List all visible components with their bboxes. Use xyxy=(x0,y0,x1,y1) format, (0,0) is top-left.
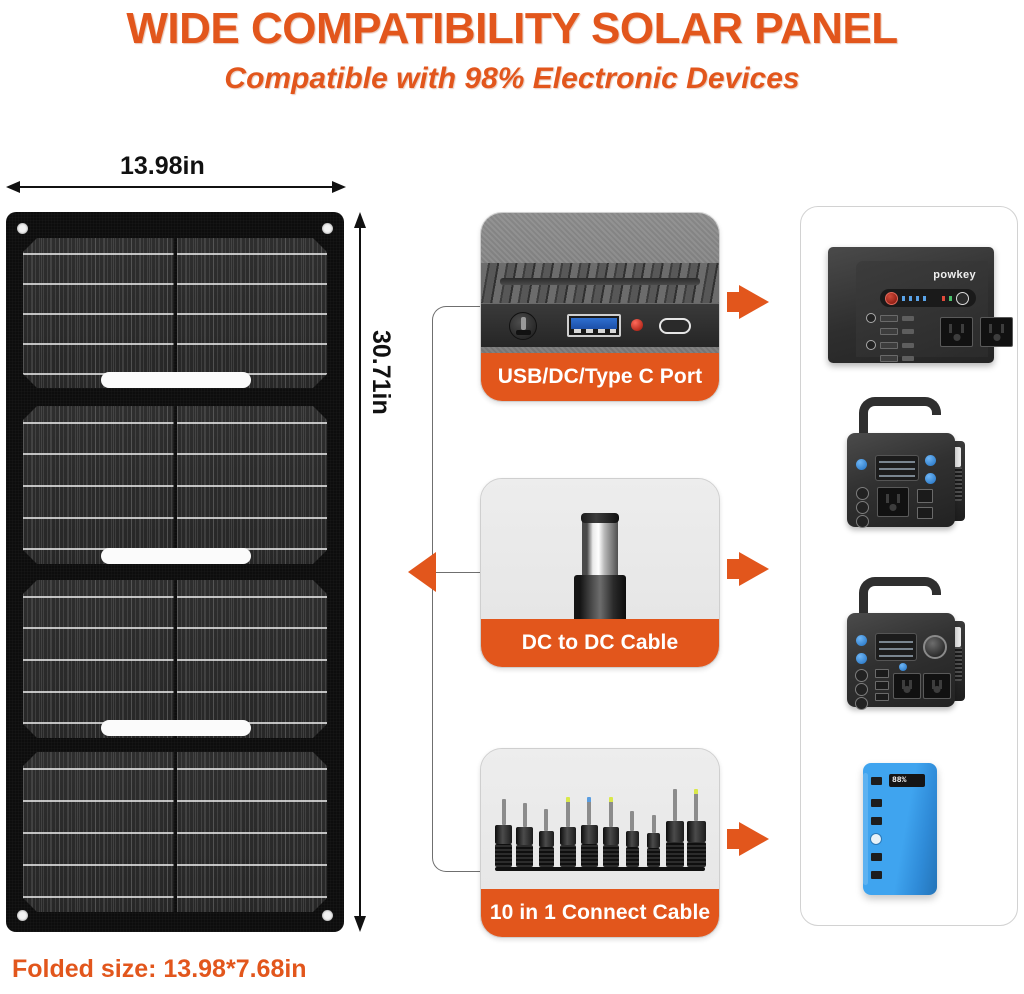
busbar xyxy=(23,343,174,345)
tip-barrel xyxy=(603,827,619,845)
tip-barrel xyxy=(495,825,512,844)
label-tick xyxy=(880,342,898,349)
busbar xyxy=(23,517,174,519)
grommet-top-right xyxy=(322,223,333,234)
tip-grip xyxy=(560,845,576,867)
knob-icon xyxy=(866,340,876,350)
dc-jack-icon xyxy=(856,487,869,500)
connector-tip xyxy=(559,797,576,867)
tip-grip xyxy=(516,845,533,867)
tip-grip xyxy=(495,844,512,867)
busbar xyxy=(177,343,328,345)
solar-cell xyxy=(23,406,174,564)
solar-cell xyxy=(23,580,174,738)
dc-jack-icon xyxy=(509,312,537,340)
lcd-display xyxy=(875,455,919,481)
label-bar xyxy=(902,356,914,361)
busbar xyxy=(177,596,328,598)
busbar xyxy=(23,283,174,285)
station-body xyxy=(847,433,955,527)
label-tick xyxy=(880,328,898,335)
connector-tip xyxy=(667,789,684,867)
brand-logo: powkey xyxy=(933,269,976,281)
indicator-strip xyxy=(880,289,976,307)
arrow-right-icon-2 xyxy=(727,552,769,586)
tip-grip xyxy=(626,847,639,867)
connector-tips-row xyxy=(495,777,705,867)
tip-grip xyxy=(647,848,660,867)
blue-button-icon xyxy=(856,635,867,646)
tip-pin xyxy=(502,799,506,825)
port-face xyxy=(481,303,719,347)
busbar xyxy=(177,313,328,315)
dc-plug-illustration xyxy=(481,479,719,619)
power-bank-button-icon xyxy=(870,833,882,845)
connector-tip xyxy=(645,815,662,867)
connector-stub xyxy=(432,572,480,573)
connector-tips-illustration xyxy=(481,749,719,889)
busbar xyxy=(177,517,328,519)
tip-pin xyxy=(694,789,698,821)
busbar xyxy=(23,896,174,898)
ac-outlet-icon xyxy=(893,673,921,699)
tip-pin xyxy=(673,789,677,821)
tip-pin xyxy=(609,797,613,827)
tips-base-bar xyxy=(495,867,705,871)
connector-tip xyxy=(688,789,705,867)
power-bank-port-icon xyxy=(871,871,882,879)
power-bank-port-icon xyxy=(871,777,882,785)
compatible-devices-panel: powkey xyxy=(800,206,1018,926)
device-portable-power-station-1 xyxy=(847,397,967,529)
power-bank-port-icon xyxy=(871,799,882,807)
dc-jack-icon xyxy=(855,697,868,710)
ridge-slot xyxy=(500,278,700,285)
blue-button-icon xyxy=(925,455,936,466)
bank-left-edge xyxy=(863,773,868,885)
arrow-head xyxy=(739,552,769,586)
label-tick xyxy=(880,355,898,362)
tip-barrel xyxy=(539,831,554,847)
busbar xyxy=(23,691,174,693)
tip-grip xyxy=(581,844,598,867)
busbar xyxy=(177,627,328,629)
feature-label-dc: DC to DC Cable xyxy=(481,619,719,667)
page-subtitle: Compatible with 98% Electronic Devices xyxy=(0,62,1024,96)
power-button-icon xyxy=(885,292,898,305)
station-control-panel: powkey xyxy=(856,261,988,357)
busbar xyxy=(23,253,174,255)
solar-panel xyxy=(6,212,344,932)
connector-tip xyxy=(516,803,533,867)
solar-cell xyxy=(177,752,328,912)
ac-outlet-icon xyxy=(980,317,1013,347)
busbar xyxy=(177,800,328,802)
device-blue-power-bank: 88% xyxy=(863,763,937,895)
page-title: WIDE COMPATIBILITY SOLAR PANEL xyxy=(0,4,1024,54)
grommet-top-left xyxy=(17,223,28,234)
connector-tip xyxy=(602,797,619,867)
arrow-right-icon-1 xyxy=(727,285,769,319)
connector-tip xyxy=(538,809,555,867)
busbar xyxy=(23,422,174,424)
tip-grip xyxy=(687,842,706,867)
solar-cell-section xyxy=(23,580,327,738)
mode-button-icon xyxy=(956,292,969,305)
fold-slot xyxy=(101,548,251,564)
dc-jack-icon xyxy=(855,683,868,696)
led-icon-red xyxy=(942,296,945,301)
busbar xyxy=(23,768,174,770)
blue-button-icon xyxy=(856,459,867,470)
busbar xyxy=(23,313,174,315)
fold-slot xyxy=(101,720,251,736)
tip-barrel xyxy=(581,825,598,844)
cell-busbars xyxy=(177,406,328,564)
tip-pin xyxy=(630,811,634,831)
connector-tip xyxy=(581,797,598,867)
blue-button-icon xyxy=(899,663,907,671)
busbar xyxy=(23,627,174,629)
dc-plug-barrel-icon xyxy=(582,517,618,579)
busbar xyxy=(23,864,174,866)
type-c-port-icon xyxy=(659,318,691,334)
cell-busbars xyxy=(23,752,174,912)
label-tick xyxy=(880,315,898,322)
cell-busbars xyxy=(23,238,174,388)
usb-port-icon xyxy=(917,489,933,503)
label-bar xyxy=(902,316,914,321)
solar-cell-section xyxy=(23,406,327,564)
ac-outlet-icon xyxy=(877,487,909,517)
tip-pin xyxy=(523,803,527,827)
busbar xyxy=(23,596,174,598)
solar-cell-section xyxy=(23,752,327,912)
led-icon-green xyxy=(949,296,952,301)
usb-port-illustration xyxy=(481,213,719,353)
dc-jack-icon xyxy=(855,669,868,682)
tip-pin xyxy=(587,797,591,825)
arrow-left-icon xyxy=(408,552,436,592)
solar-cell-section xyxy=(23,238,327,388)
busbar xyxy=(177,864,328,866)
station-left-controls xyxy=(866,313,928,362)
blue-button-icon xyxy=(925,473,936,484)
tip-grip xyxy=(603,845,619,867)
dc-plug-cap-icon xyxy=(581,513,619,523)
solar-cell xyxy=(177,238,328,388)
tip-barrel xyxy=(687,821,706,842)
led-icon xyxy=(923,296,926,301)
arrow-head xyxy=(739,822,769,856)
busbar xyxy=(23,832,174,834)
folded-size-label: Folded size: 13.98*7.68in xyxy=(12,955,307,984)
connector-bracket xyxy=(432,306,480,872)
feature-card-ten-in-one[interactable]: 10 in 1 Connect Cable xyxy=(480,748,720,938)
busbar xyxy=(177,768,328,770)
label-bar xyxy=(902,343,914,348)
arrow-right-icon-3 xyxy=(727,822,769,856)
solar-cell xyxy=(177,406,328,564)
solar-cell xyxy=(177,580,328,738)
infographic-root: WIDE COMPATIBILITY SOLAR PANEL Compatibl… xyxy=(0,0,1024,994)
usb-port-icon xyxy=(917,507,933,519)
feature-label-tips: 10 in 1 Connect Cable xyxy=(481,889,719,937)
tip-barrel xyxy=(666,821,684,842)
tip-grip xyxy=(666,842,684,867)
busbar xyxy=(23,800,174,802)
busbar xyxy=(177,453,328,455)
feature-card-usb-dc-typec[interactable]: USB/DC/Type C Port xyxy=(480,212,720,402)
cell-busbars xyxy=(177,580,328,738)
tip-pin xyxy=(566,797,570,827)
feature-card-dc-to-dc[interactable]: DC to DC Cable xyxy=(480,478,720,668)
device-powkey-station-face: powkey xyxy=(828,247,994,363)
connector-tip xyxy=(495,799,512,867)
dc-plug-body-icon xyxy=(574,575,626,619)
knob-icon xyxy=(866,313,876,323)
dc-jack-icon xyxy=(856,515,869,528)
usb-port-icon xyxy=(875,681,889,690)
busbar xyxy=(177,485,328,487)
busbar xyxy=(177,691,328,693)
cell-busbars xyxy=(177,238,328,388)
tip-barrel xyxy=(647,833,660,848)
lcd-display xyxy=(875,633,917,661)
power-bank-port-icon xyxy=(871,817,882,825)
tip-pin xyxy=(544,809,548,831)
dc-jack-icon xyxy=(856,501,869,514)
arrow-head xyxy=(739,285,769,319)
panel-width-label: 13.98in xyxy=(120,152,205,181)
feature-label-usb: USB/DC/Type C Port xyxy=(481,353,719,401)
tip-pin xyxy=(652,815,656,833)
busbar xyxy=(23,453,174,455)
battery-display: 88% xyxy=(889,774,925,787)
usb-port-icon xyxy=(875,669,889,678)
busbar xyxy=(177,896,328,898)
led-icon xyxy=(902,296,905,301)
led-indicator-icon xyxy=(631,319,643,331)
led-icon xyxy=(909,296,912,301)
label-bar xyxy=(902,329,914,334)
tip-grip xyxy=(539,847,554,867)
solar-cell xyxy=(23,752,174,912)
device-portable-power-station-2 xyxy=(847,577,967,709)
busbar xyxy=(23,485,174,487)
anderson-jack-icon xyxy=(923,635,947,659)
tip-barrel xyxy=(560,827,576,845)
led-icon xyxy=(916,296,919,301)
busbar xyxy=(177,283,328,285)
usb-port-icon xyxy=(875,693,889,701)
busbar xyxy=(23,659,174,661)
cell-busbars xyxy=(23,580,174,738)
tip-barrel xyxy=(516,827,533,845)
solar-cell xyxy=(23,238,174,388)
battery-percent: 88% xyxy=(892,776,906,785)
height-dimension-arrow xyxy=(352,212,368,932)
busbar xyxy=(177,253,328,255)
power-bank-port-icon xyxy=(871,853,882,861)
busbar xyxy=(177,832,328,834)
connector-tip xyxy=(624,811,641,867)
ac-outlet-icon xyxy=(923,673,951,699)
panel-ridge xyxy=(481,263,719,303)
busbar xyxy=(177,422,328,424)
tip-barrel xyxy=(626,831,639,847)
ac-outlet-icon xyxy=(940,317,973,347)
blue-button-icon xyxy=(856,653,867,664)
cell-busbars xyxy=(23,406,174,564)
cell-busbars xyxy=(177,752,328,912)
width-dimension-arrow xyxy=(6,180,346,194)
station-body xyxy=(847,613,955,707)
panel-height-label: 30.71in xyxy=(366,330,395,415)
usb-a-port-icon xyxy=(567,314,621,337)
busbar xyxy=(177,659,328,661)
fold-slot xyxy=(101,372,251,388)
